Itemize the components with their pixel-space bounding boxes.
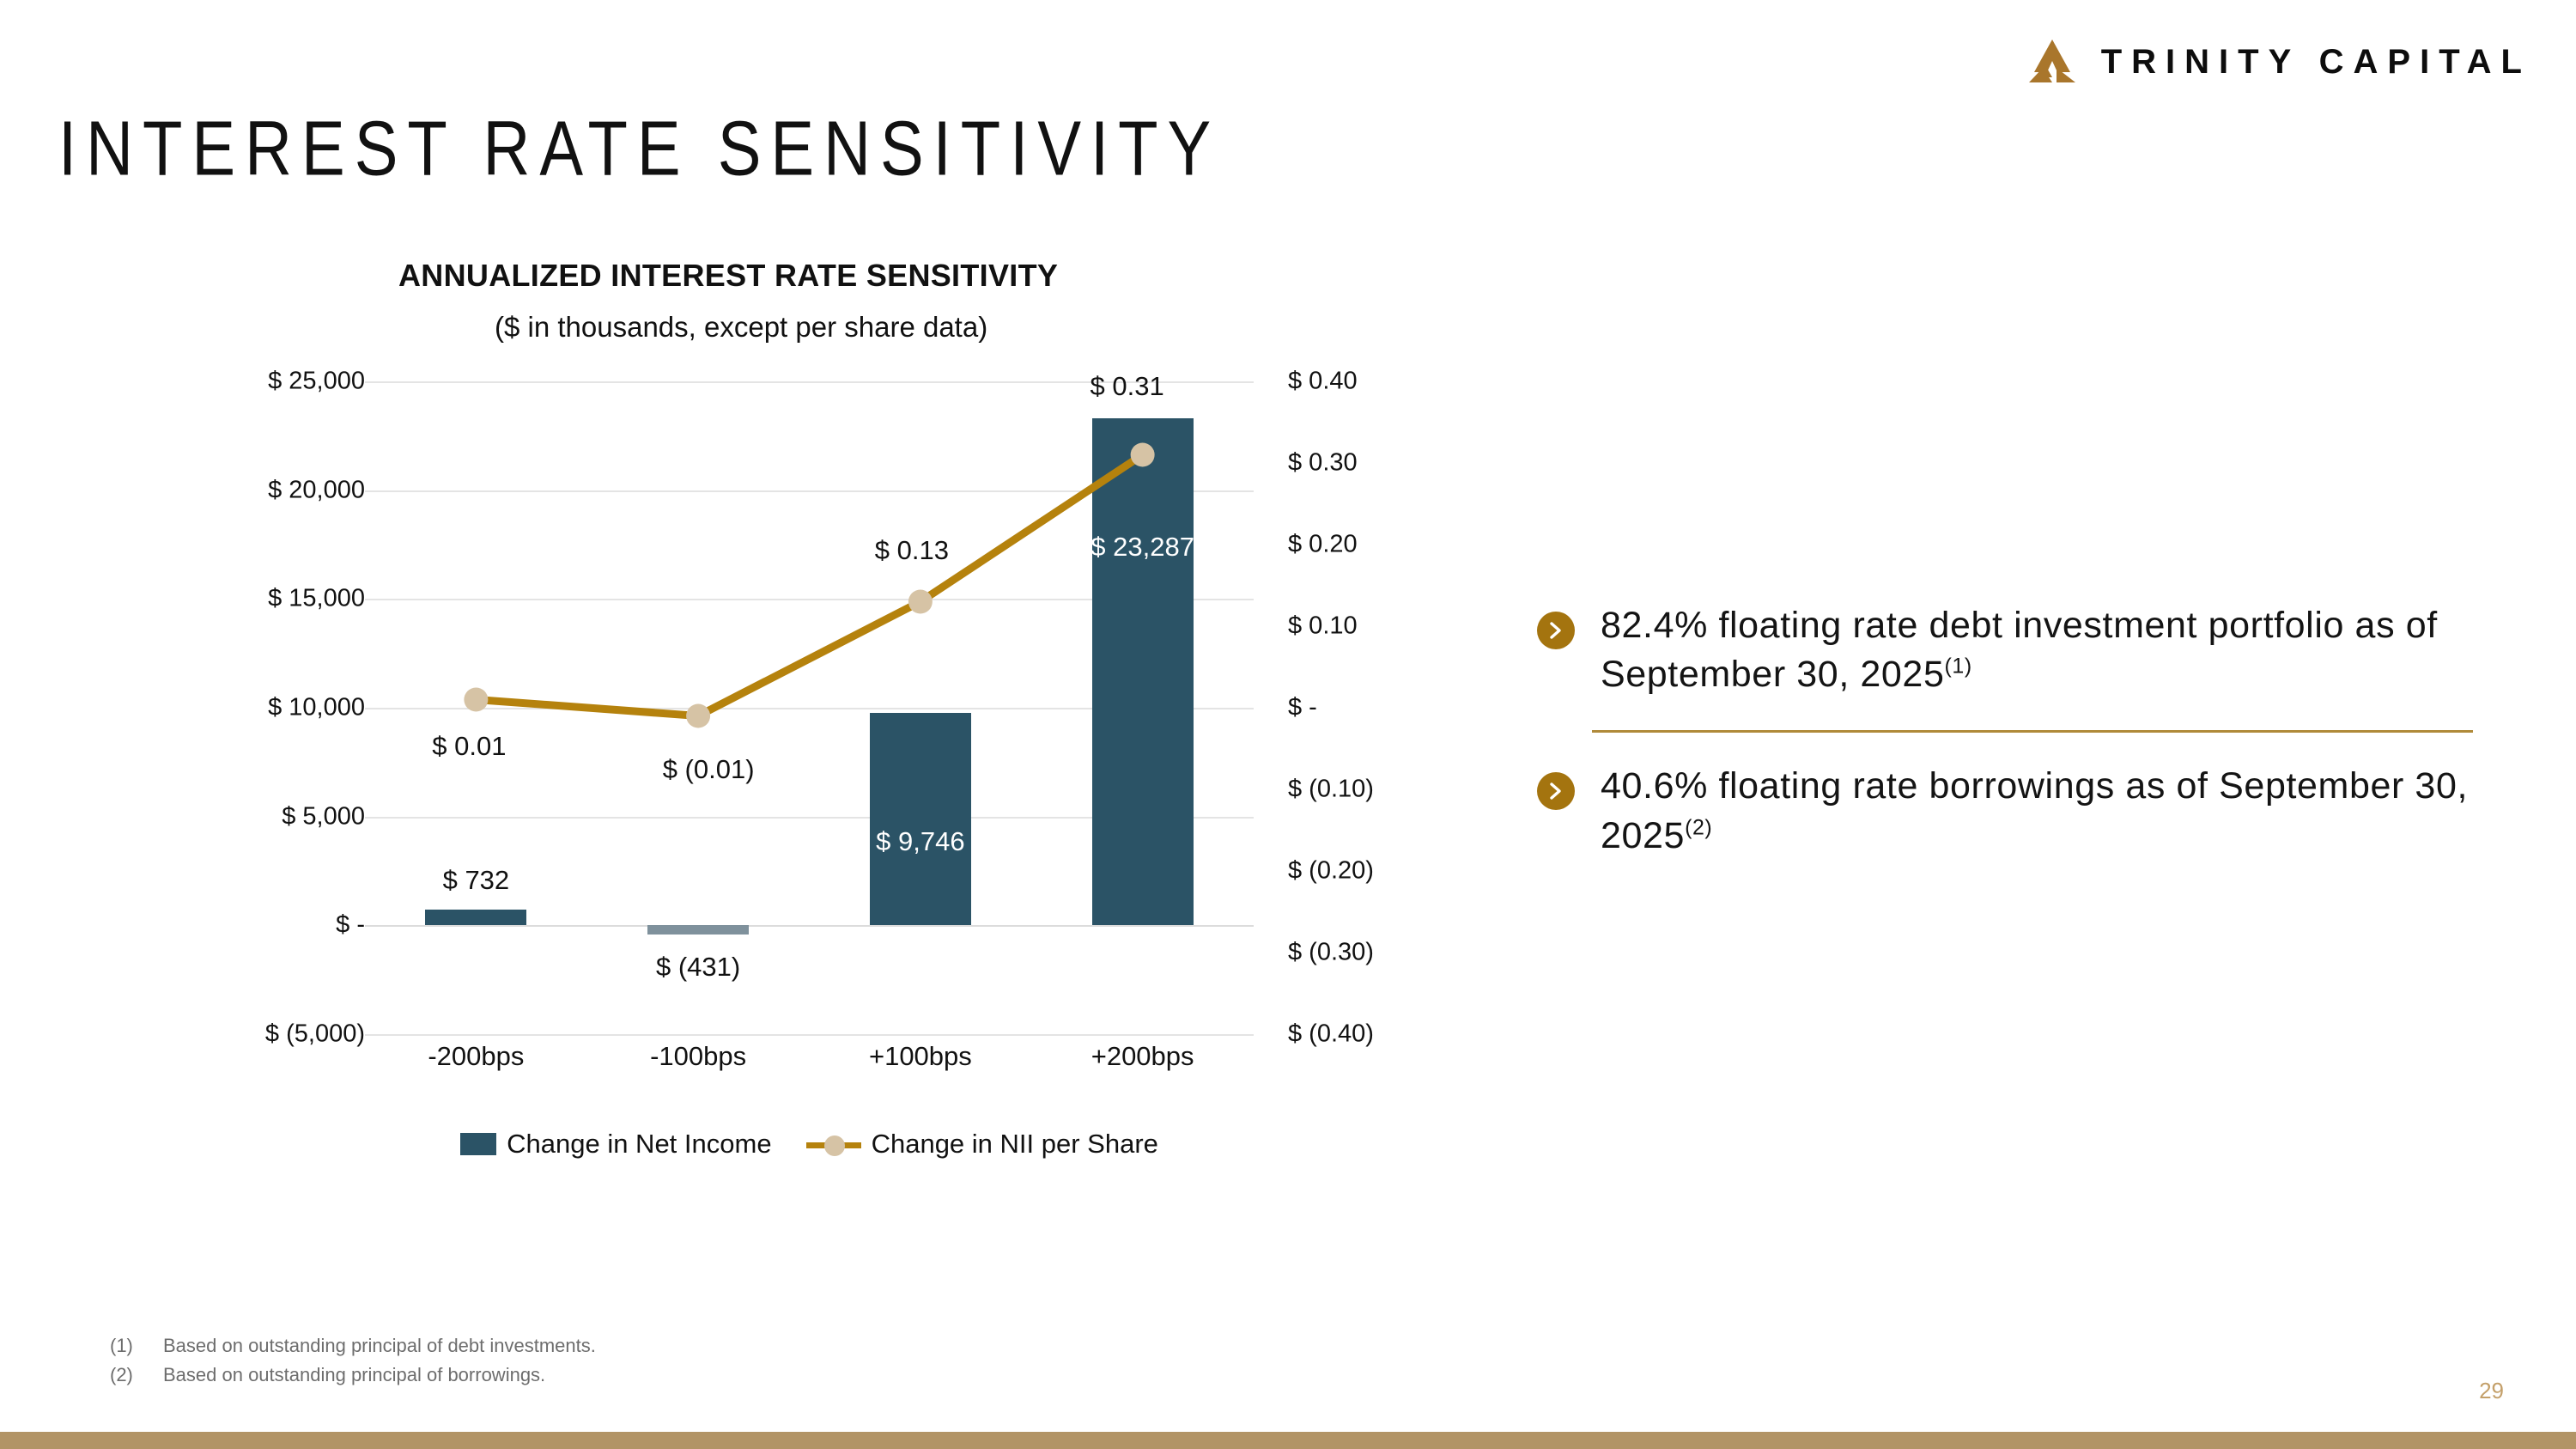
page-title: INTEREST RATE SENSITIVITY xyxy=(58,105,1220,193)
page-number: 29 xyxy=(2479,1378,2504,1404)
footnote-text: Based on outstanding principal of borrow… xyxy=(163,1361,545,1390)
left-axis-tick: $ - xyxy=(336,911,365,940)
footnote-text: Based on outstanding principal of debt i… xyxy=(163,1331,596,1361)
brand-logo: TRINITY CAPITAL xyxy=(2026,38,2531,86)
left-axis-tick: $ 5,000 xyxy=(282,802,365,831)
highlight-item-2: 40.6% floating rate borrowings as of Sep… xyxy=(1537,762,2473,860)
left-axis-tick: $ 15,000 xyxy=(268,585,365,613)
legend-label: Change in NII per Share xyxy=(872,1129,1158,1160)
left-y-axis: $ 25,000$ 20,000$ 15,000$ 10,000$ 5,000$… xyxy=(185,381,365,1034)
line-value-label: $ (0.01) xyxy=(663,754,755,785)
legend-item[interactable]: Change in Net Income xyxy=(460,1129,771,1160)
chevron-right-circle-icon xyxy=(1537,612,1575,649)
left-axis-tick: $ 10,000 xyxy=(268,694,365,722)
right-axis-tick: $ (0.20) xyxy=(1288,857,1374,886)
x-axis-categories: -200bps-100bps+100bps+200bps xyxy=(365,1041,1254,1072)
left-axis-tick: $ 25,000 xyxy=(268,368,365,396)
chart-container: ANNUALIZED INTEREST RATE SENSITIVITY ($ … xyxy=(0,258,1443,1271)
right-axis-tick: $ (0.30) xyxy=(1288,939,1374,967)
highlights-list: 82.4% floating rate debt investment port… xyxy=(1537,601,2473,861)
right-axis-tick: $ - xyxy=(1288,694,1317,722)
right-axis-tick: $ (0.10) xyxy=(1288,776,1374,804)
x-axis-tick-label: -200bps xyxy=(365,1041,587,1072)
right-axis-tick: $ 0.40 xyxy=(1288,368,1358,396)
chart-title: ANNUALIZED INTEREST RATE SENSITIVITY xyxy=(398,258,1443,294)
legend-swatch-bar xyxy=(460,1133,496,1155)
highlight-text-1: 82.4% floating rate debt investment port… xyxy=(1601,601,2473,699)
line-marker[interactable] xyxy=(686,704,710,728)
left-axis-tick: $ (5,000) xyxy=(265,1020,365,1049)
footnote-row: (2) Based on outstanding principal of bo… xyxy=(110,1361,596,1390)
line-path xyxy=(476,455,1142,716)
chart-subtitle: ($ in thousands, except per share data) xyxy=(495,311,1443,344)
footer-accent-bar xyxy=(0,1432,2576,1449)
x-axis-tick-label: -100bps xyxy=(587,1041,810,1072)
left-axis-tick: $ 20,000 xyxy=(268,476,365,504)
highlight-text-2: 40.6% floating rate borrowings as of Sep… xyxy=(1601,762,2473,860)
footnotes: (1) Based on outstanding principal of de… xyxy=(110,1331,596,1390)
highlight-item-1: 82.4% floating rate debt investment port… xyxy=(1537,601,2473,699)
line-value-label: $ 0.31 xyxy=(1091,371,1164,402)
footnote-number: (2) xyxy=(110,1361,148,1390)
legend-swatch-line xyxy=(806,1140,861,1148)
x-axis-tick-label: +100bps xyxy=(810,1041,1032,1072)
line-value-label: $ 0.13 xyxy=(875,535,949,566)
footnote-number: (1) xyxy=(110,1331,148,1361)
gridline xyxy=(365,1034,1254,1036)
plot-area: $ 25,000$ 20,000$ 15,000$ 10,000$ 5,000$… xyxy=(0,381,1443,1154)
legend-label: Change in Net Income xyxy=(507,1129,771,1160)
trinity-triangle-logo-icon xyxy=(2026,38,2079,86)
right-y-axis: $ 0.40$ 0.30$ 0.20$ 0.10$ -$ (0.10)$ (0.… xyxy=(1288,381,1494,1034)
footnote-ref-1: (1) xyxy=(1944,654,1971,679)
slide-root: TRINITY CAPITAL INTEREST RATE SENSITIVIT… xyxy=(0,0,2576,1449)
line-marker[interactable] xyxy=(1131,443,1155,467)
right-axis-tick: $ 0.10 xyxy=(1288,612,1358,641)
line-series xyxy=(365,381,1254,1034)
x-axis-tick-label: +200bps xyxy=(1031,1041,1254,1072)
brand-name: TRINITY CAPITAL xyxy=(2101,43,2531,82)
right-axis-tick: $ 0.20 xyxy=(1288,531,1358,559)
line-marker[interactable] xyxy=(464,688,488,712)
footnote-row: (1) Based on outstanding principal of de… xyxy=(110,1331,596,1361)
chart-legend: Change in Net IncomeChange in NII per Sh… xyxy=(365,1129,1254,1160)
line-marker[interactable] xyxy=(908,590,933,614)
highlights-divider xyxy=(1592,730,2473,733)
chevron-right-circle-icon xyxy=(1537,772,1575,810)
plot-surface: $ 732$ (431)$ 9,746$ 23,287$ 0.01$ (0.01… xyxy=(365,381,1254,1034)
legend-item[interactable]: Change in NII per Share xyxy=(806,1129,1158,1160)
right-axis-tick: $ (0.40) xyxy=(1288,1020,1374,1049)
footnote-ref-2: (2) xyxy=(1685,815,1712,839)
line-value-label: $ 0.01 xyxy=(432,731,506,762)
right-axis-tick: $ 0.30 xyxy=(1288,449,1358,478)
